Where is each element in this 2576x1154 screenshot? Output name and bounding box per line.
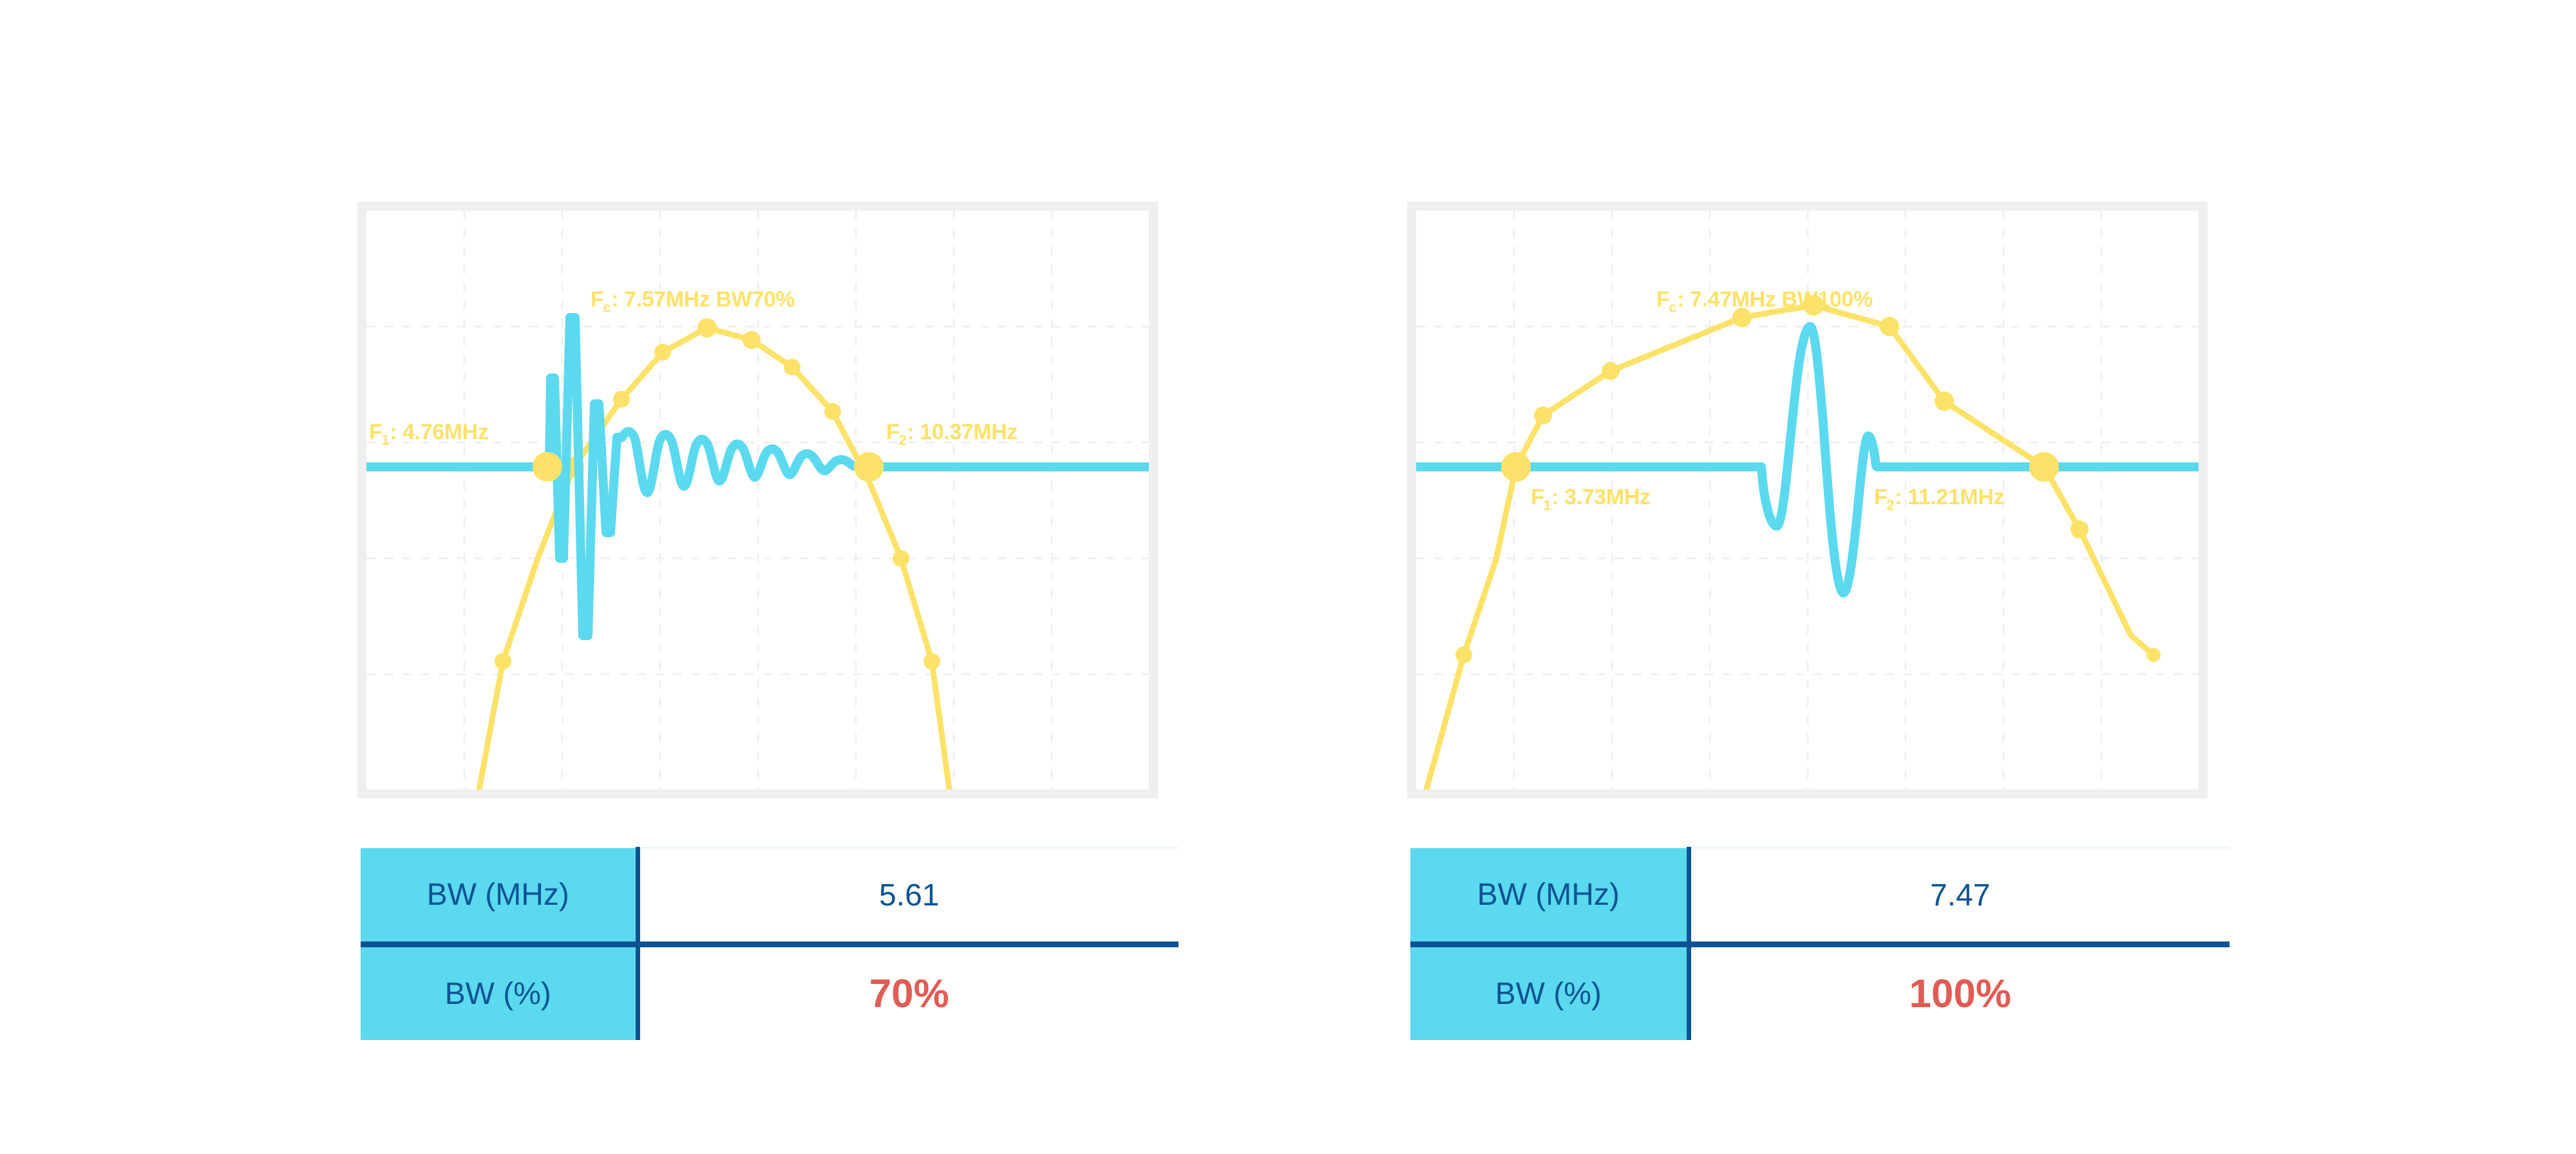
chart-right-plot-area: Fc: 7.47MHz BW100% F1: 3.73MHz F2: 11.21… [1416, 211, 2199, 790]
chart-left-plot-area: Fc: 7.57MHz BW70% F1: 4.76MHz F2: 10.37M… [366, 211, 1149, 790]
bw-pct-value-right: 100% [1689, 945, 2230, 1041]
table-row: BW (%) 100% [1410, 945, 2230, 1041]
chart-left-f2-label: F2: 10.37MHz [886, 421, 1018, 443]
bw-mhz-label-right: BW (MHz) [1410, 848, 1689, 945]
bw-pct-label-left: BW (%) [361, 945, 638, 1041]
panel-right: Fc: 7.47MHz BW100% F1: 3.73MHz F2: 11.21… [1050, 0, 2273, 1154]
table-row: BW (MHz) 7.47 [1410, 848, 2230, 945]
chart-right-f1-label: F1: 3.73MHz [1531, 486, 1650, 508]
pulse-waveform-right [1416, 326, 2199, 593]
panel-left: Fc: 7.57MHz BW70% F1: 4.76MHz F2: 10.37M… [0, 0, 1224, 1154]
chart-right-f2-label: F2: 11.21MHz [1874, 486, 2004, 508]
bw-mhz-label-left: BW (MHz) [361, 848, 638, 945]
chart-left: Fc: 7.57MHz BW70% F1: 4.76MHz F2: 10.37M… [357, 202, 1158, 799]
bw-pct-label-right: BW (%) [1410, 945, 1689, 1041]
chart-right-center-label: Fc: 7.47MHz BW100% [1656, 288, 1873, 310]
chart-right: Fc: 7.47MHz BW100% F1: 3.73MHz F2: 11.21… [1407, 202, 2208, 799]
spectrum-curve-right [1426, 305, 2154, 790]
bw-mhz-value-right: 7.47 [1689, 848, 2230, 945]
chart-left-f1-label: F1: 4.76MHz [369, 421, 488, 443]
bandwidth-table-right: BW (MHz) 7.47 BW (%) 100% [1410, 847, 2230, 1040]
pulse-waveform-left [366, 317, 1149, 636]
chart-left-center-label: Fc: 7.57MHz BW70% [591, 288, 795, 310]
figure-root: Fc: 7.57MHz BW70% F1: 4.76MHz F2: 10.37M… [0, 0, 2576, 1154]
